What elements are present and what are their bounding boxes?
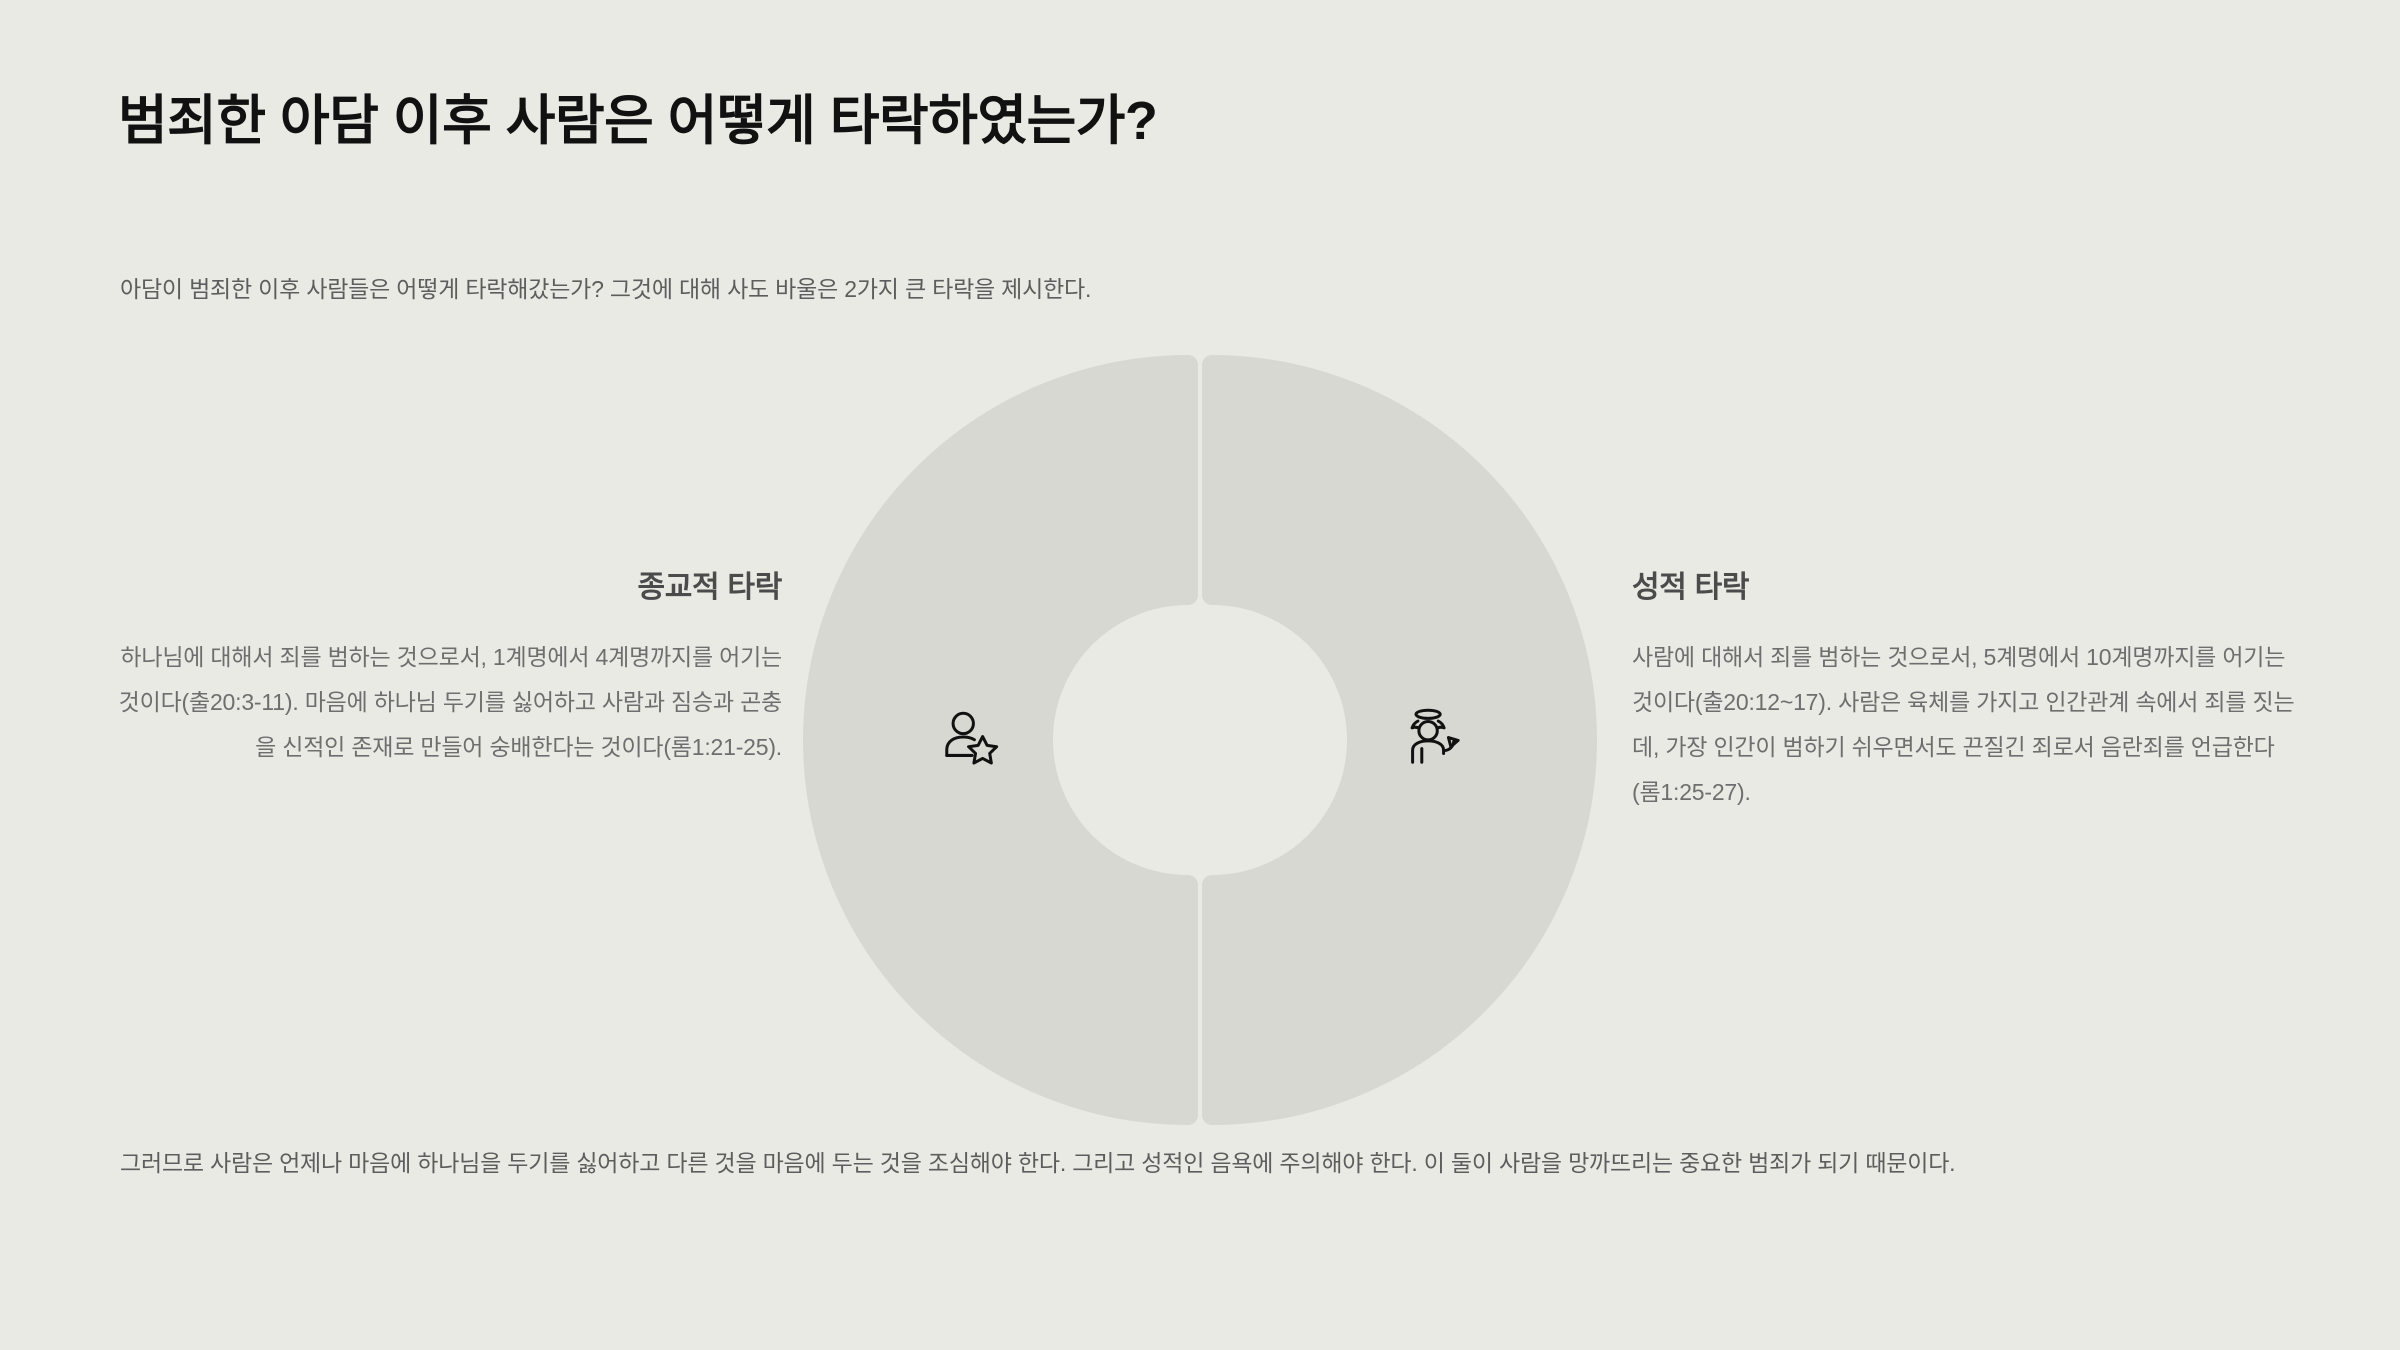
segment-heading-sexual: 성적 타락	[1632, 568, 2302, 607]
donut-chart-svg	[825, 355, 1575, 1125]
segment-column-religious: 종교적 타락 하나님에 대해서 죄를 범하는 것으로서, 1계명에서 4계명까지…	[112, 568, 782, 770]
segment-body-religious: 하나님에 대해서 죄를 범하는 것으로서, 1계명에서 4계명까지를 어기는 것…	[112, 635, 782, 770]
infographic-page: 범죄한 아담 이후 사람은 어떻게 타락하였는가? 아담이 범죄한 이후 사람들…	[0, 0, 2400, 1350]
person-star-icon	[940, 707, 1002, 769]
page-subtitle: 아담이 범죄한 이후 사람들은 어떻게 타락해갔는가? 그것에 대해 사도 바울…	[120, 272, 2220, 307]
donut-chart	[825, 355, 1575, 1125]
segment-heading-religious: 종교적 타락	[112, 568, 782, 607]
person-devil-angel-icon-svg	[1400, 707, 1462, 769]
person-devil-angel-icon	[1400, 707, 1462, 769]
segment-body-sexual: 사람에 대해서 죄를 범하는 것으로서, 5계명에서 10계명까지를 어기는 것…	[1632, 635, 2302, 814]
page-footer: 그러므로 사람은 언제나 마음에 하나님을 두기를 싫어하고 다른 것을 마음에…	[120, 1142, 2315, 1185]
segment-column-sexual: 성적 타락 사람에 대해서 죄를 범하는 것으로서, 5계명에서 10계명까지를…	[1632, 568, 2302, 814]
page-title: 범죄한 아담 이후 사람은 어떻게 타락하였는가?	[118, 88, 2278, 156]
person-star-icon-svg	[940, 707, 1002, 769]
